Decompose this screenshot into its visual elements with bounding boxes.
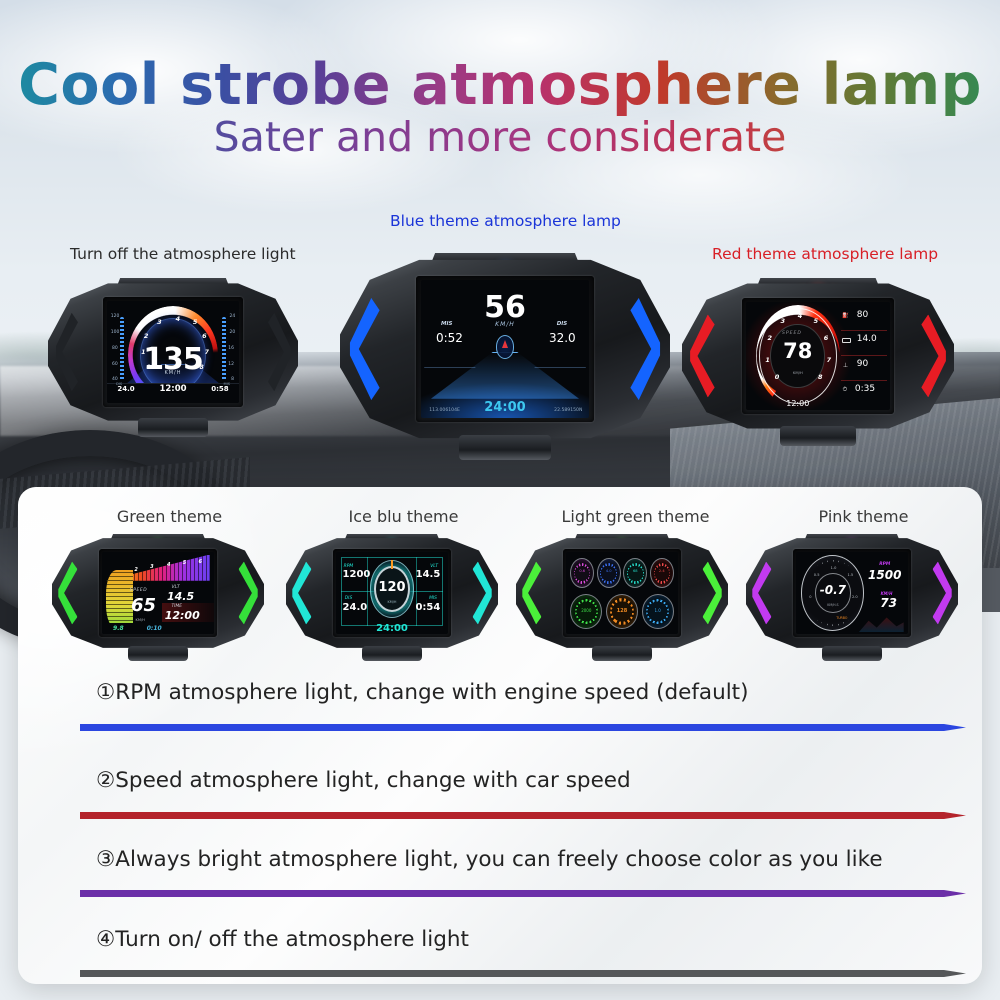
hud4-footer-right: 0:10 <box>147 625 162 632</box>
hud5-screen: 120 KM/H RPM 1200 VLT 14.5 DIS 24.0 MIS … <box>336 552 448 634</box>
hud3-side-value-1: 14.0 <box>857 334 877 344</box>
hud3-screen: 0 1 2 3 4 5 6 7 8 SPEED 78 KM/H 12:00 ⛽ … <box>746 302 890 410</box>
hud-device-green-theme: 2 3 4 5 6 SPEED 65 KM/H VLT 14.5 TIME 12… <box>52 537 264 649</box>
gauge-bottom-2-value: 1.0 <box>643 608 673 613</box>
hud7-tick-1: 0.5 <box>814 573 820 577</box>
gauge-top-3: 2.4 <box>650 558 674 588</box>
label-green-theme: Green theme <box>52 507 287 526</box>
gauge-bottom-1-value: 128 <box>607 608 637 614</box>
hud3-altitude-icon: ⊥ <box>843 362 848 369</box>
hud5-rpm-value: 1200 <box>343 569 371 580</box>
hud2-clock: 24:00 <box>421 400 589 415</box>
hud-device-ice-blu-theme: 120 KM/H RPM 1200 VLT 14.5 DIS 24.0 MIS … <box>286 537 498 649</box>
hud7-rpm-value: 1500 <box>868 568 901 582</box>
hud3-battery-icon <box>842 338 851 343</box>
hud4-screen: 2 3 4 5 6 SPEED 65 KM/H VLT 14.5 TIME 12… <box>102 552 214 634</box>
gauge-top-1: 4.0 <box>597 558 621 588</box>
hud6-mount <box>592 646 651 662</box>
gauge-bottom-2: 1.0 <box>642 594 674 629</box>
label-red-theme: Red theme atmosphere lamp <box>712 245 938 263</box>
hud-device-light-green-theme: 0.6 4.0 68 2.4 2000 <box>516 537 728 649</box>
hud1-right-scale-1: 20 <box>230 330 236 335</box>
hud1-mount <box>138 418 208 438</box>
feature-item-3: ③Always bright atmosphere light, you can… <box>96 847 966 872</box>
hud4-rpm-6: 6 <box>198 559 201 565</box>
hud4-rpm-2: 2 <box>134 567 137 573</box>
hud3-side-value-2: 90 <box>857 359 868 369</box>
hud3-side-value-3: 0:35 <box>855 384 875 394</box>
label-ice-blu-theme: Ice blu theme <box>286 507 521 526</box>
feature-rule-3 <box>80 890 966 897</box>
hud2-compass-needle <box>502 340 508 348</box>
hud1-rpm-4: 4 <box>176 315 181 323</box>
hud4-rpm-3: 3 <box>150 564 153 570</box>
gauge-top-1-value: 4.0 <box>598 569 620 573</box>
feature-rule-1 <box>80 724 966 731</box>
hud7-tick-0: 0 <box>809 595 811 599</box>
hud3-speed-value: 78 <box>778 339 818 363</box>
hud7-tick-2: 1.0 <box>831 566 837 570</box>
hud2-mis-value: 0:52 <box>436 331 463 345</box>
hud6-screen-multi-gauge: 0.6 4.0 68 2.4 2000 <box>566 552 678 634</box>
hud4-footer-left: 9.8 <box>113 625 124 632</box>
hud2-dis-value: 32.0 <box>549 331 576 345</box>
hud4-speed-value: 65 <box>131 595 156 616</box>
hud2-screen: 56 KM/H MIS 0:52 DIS 32.0 113.006104E 22… <box>421 280 589 418</box>
hud3-clock: 12:00 <box>778 399 818 408</box>
hud7-value: -0.7 <box>815 583 851 597</box>
gauge-top-0: 0.6 <box>570 558 594 588</box>
feature-rule-4 <box>80 970 966 977</box>
hud5-dis-value: 24.0 <box>343 602 368 613</box>
hud3-gauge-icon: ⛽ <box>842 313 849 319</box>
feature-item-1: ①RPM atmosphere light, change with engin… <box>96 680 966 705</box>
hud7-screen: -0.7 KM/H.S 0 0.5 1.0 1.5 2.0 TURBO RPM … <box>796 552 908 634</box>
gauge-bottom-0-value: 2000 <box>571 608 601 613</box>
gauge-top-2-value: 68 <box>624 569 646 573</box>
hud3-speed-unit: KM/H <box>778 370 818 375</box>
label-pink-theme: Pink theme <box>746 507 981 526</box>
hud1-screen: 0 1 2 3 4 5 6 7 8 120 100 80 60 40 24 20… <box>107 301 240 403</box>
page-title: Cool strobe atmosphere lamp <box>0 52 1000 118</box>
hud1-right-scale-0: 24 <box>230 314 236 319</box>
hud7-tick-3: 1.5 <box>847 573 853 577</box>
feature-item-2: ②Speed atmosphere light, change with car… <box>96 768 966 793</box>
hud3-timer-icon: ⏱ <box>842 387 847 394</box>
page-subtitle: Sater and more considerate <box>0 113 1000 161</box>
gauge-top-2: 68 <box>623 558 647 588</box>
hud3-side-value-0: 80 <box>857 310 868 320</box>
hud5-dis-label: DIS <box>345 596 352 601</box>
hud7-mount <box>822 646 881 662</box>
hud-device-pink-theme: -0.7 KM/H.S 0 0.5 1.0 1.5 2.0 TURBO RPM … <box>746 537 958 649</box>
hud2-dis-label: DIS <box>557 321 568 327</box>
gauge-bottom-0: 2000 <box>570 594 602 629</box>
hud5-rpm-label: RPM <box>344 564 354 569</box>
hud3-rpm-7: 7 <box>827 356 832 364</box>
hud2-mis-label: MIS <box>441 321 452 327</box>
hud1-mis-label: MIS <box>224 382 230 386</box>
hud5-vlt-label: VLT <box>430 564 438 569</box>
hud1-rpm-6: 6 <box>202 332 207 340</box>
hud5-mis-label: MIS <box>429 596 437 601</box>
hud1-rpm-2: 2 <box>144 332 149 340</box>
gauge-top-0-value: 0.6 <box>571 569 593 573</box>
hud3-rpm-3: 3 <box>781 317 786 325</box>
hud1-right-scale-4: 8 <box>231 377 234 382</box>
hud4-rpm-4: 4 <box>167 562 170 568</box>
hud1-rpm-5: 5 <box>193 318 198 326</box>
hud1-speed-unit: KM/H <box>107 370 240 376</box>
feature-panel: Green theme Ice blu theme Light green th… <box>18 487 982 984</box>
hud4-speed-label: SPEED <box>130 588 147 593</box>
hud3-rpm-2: 2 <box>768 334 773 342</box>
hud1-left-scale-4: 40 <box>112 377 118 382</box>
label-turn-off-light: Turn off the atmosphere light <box>70 245 296 263</box>
gauge-bottom-1: 128 <box>606 594 638 629</box>
hud2-speed-value: 56 <box>421 290 589 325</box>
hud2-mount <box>459 435 551 460</box>
hud3-rpm-5: 5 <box>814 317 819 325</box>
hud3-rpm-4: 4 <box>798 312 803 320</box>
hud3-rpm-8: 8 <box>818 373 823 381</box>
hud3-rpm-1: 1 <box>765 356 770 364</box>
feature-rule-2 <box>80 812 966 819</box>
hud5-mis-value: 0:54 <box>415 602 440 613</box>
hud4-rpm-5: 5 <box>183 560 186 566</box>
hud1-left-scale-1: 100 <box>111 330 120 335</box>
hud-device-light-off: 0 1 2 3 4 5 6 7 8 120 100 80 60 40 24 20… <box>48 282 298 422</box>
hud3-rpm-6: 6 <box>824 334 829 342</box>
hud5-vlt-value: 14.5 <box>416 569 441 580</box>
hud1-left-scale-0: 120 <box>111 314 120 319</box>
hud5-clock: 24:00 <box>336 623 448 634</box>
hud4-vlt-value: 14.5 <box>167 590 194 603</box>
feature-item-4: ④Turn on/ off the atmosphere light <box>96 927 966 952</box>
hud5-speed-value: 120 <box>374 580 410 595</box>
gauge-top-3-value: 2.4 <box>651 569 673 573</box>
hud-device-blue-theme: 56 KM/H MIS 0:52 DIS 32.0 113.006104E 22… <box>340 258 670 440</box>
label-light-green-theme: Light green theme <box>518 507 753 526</box>
hud4-time-value: 12:00 <box>165 609 200 622</box>
hud7-value-unit: KM/H.S <box>815 603 851 607</box>
hud-device-red-theme: 0 1 2 3 4 5 6 7 8 SPEED 78 KM/H 12:00 ⛽ … <box>682 282 954 430</box>
label-blue-theme: Blue theme atmosphere lamp <box>390 212 621 230</box>
hud3-mount <box>780 426 856 447</box>
hud5-speed-unit: KM/H <box>374 600 410 604</box>
hud7-tick-4: 2.0 <box>852 595 858 599</box>
hud1-rpm-3: 3 <box>157 318 162 326</box>
hud7-gauge-sub: TURBO <box>836 616 847 620</box>
hud4-speed-unit: KM/H <box>136 618 145 622</box>
hud3-speed-label: SPEED <box>782 331 802 336</box>
hud5-mount <box>362 646 421 662</box>
hud7-speed-value: 73 <box>880 596 897 610</box>
hud7-rpm-label: RPM <box>879 562 890 567</box>
hud4-mount <box>128 646 187 662</box>
